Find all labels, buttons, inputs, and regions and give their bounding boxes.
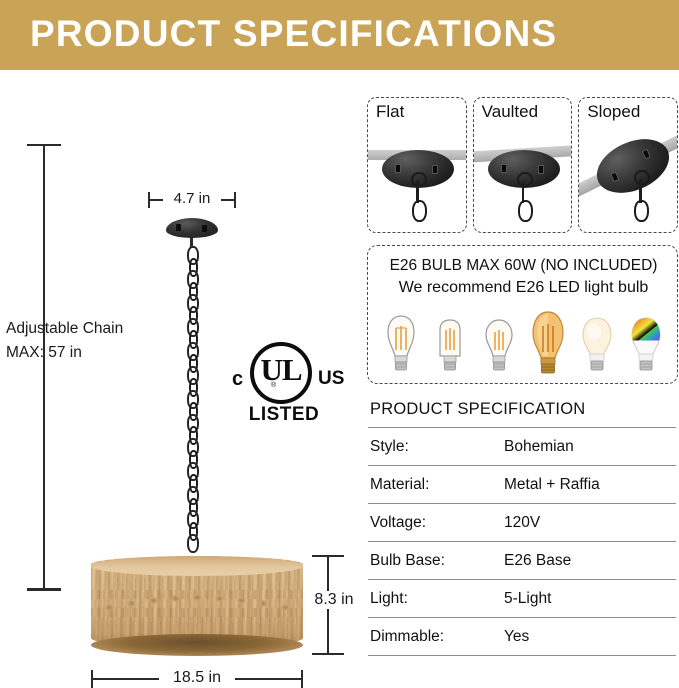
table-row: Bulb Base: E26 Base — [368, 541, 676, 579]
clear-a19-filament-bulb-icon — [478, 310, 520, 376]
amber-vintage-st64-bulb-icon — [527, 310, 569, 376]
right-info-column: Flat Vaulted Sloped — [362, 70, 679, 666]
canopy-screw-left — [176, 224, 181, 231]
canopy-width-dimension: 4.7 in — [148, 192, 236, 208]
mount-option-flat-label: Flat — [376, 102, 404, 122]
ul-prefix-c: c — [232, 368, 243, 391]
clear-st64-filament-bulb-icon — [380, 310, 422, 376]
spec-value: Metal + Raffia — [504, 476, 600, 494]
vaulted-hanging-loop — [517, 172, 533, 187]
shade-width-right-tick — [301, 670, 303, 688]
canopy-width-label: 4.7 in — [163, 190, 221, 207]
chain-label-line1: Adjustable Chain — [6, 317, 123, 341]
shade-height-label: 8.3 in — [308, 591, 360, 609]
mount-option-sloped-label: Sloped — [587, 102, 640, 122]
sloped-chain-link — [634, 200, 649, 222]
ul-listed-text: LISTED — [242, 404, 326, 426]
frosted-a19-led-bulb-icon — [576, 310, 618, 376]
spec-value: Yes — [504, 628, 529, 646]
mount-option-vaulted: Vaulted — [473, 97, 573, 233]
bulb-recommendation-box: E26 BULB MAX 60W (NO INCLUDED) We recomm… — [367, 245, 678, 384]
header-banner: PRODUCT SPECIFICATIONS — [0, 0, 679, 70]
spec-value: 5-Light — [504, 590, 551, 608]
spec-table-title: PRODUCT SPECIFICATION — [368, 400, 676, 427]
spec-key: Dimmable: — [368, 628, 504, 646]
table-row: Voltage: 120V — [368, 503, 676, 541]
shade-weave-band-lower — [91, 608, 303, 617]
clear-t45-tubular-filament-bulb-icon — [429, 310, 471, 376]
chain-dimension-bottom-tick — [27, 588, 61, 591]
ul-letters: UL — [254, 354, 308, 386]
table-row: Material: Metal + Raffia — [368, 465, 676, 503]
bulb-max-wattage-text: E26 BULB MAX 60W (NO INCLUDED) — [368, 257, 679, 275]
product-illustration-panel: Adjustable Chain MAX: 57 in 4.7 in — [0, 70, 358, 666]
bulb-type-row — [380, 308, 667, 376]
spec-value: 120V — [504, 514, 540, 532]
mount-option-flat: Flat — [367, 97, 467, 233]
chain-dimension-label: Adjustable Chain MAX: 57 in — [6, 317, 123, 365]
shade-top-rim — [91, 556, 303, 576]
spec-key: Light: — [368, 590, 504, 608]
ul-listed-icon: c UL ® US LISTED — [232, 342, 344, 428]
table-row: Style: Bohemian — [368, 427, 676, 465]
shade-width-dimension: 18.5 in — [91, 670, 303, 688]
ul-registered-symbol: ® — [271, 382, 276, 389]
raffia-drum-shade — [91, 548, 303, 656]
shade-bottom-rim — [91, 634, 303, 656]
spec-key: Style: — [368, 438, 504, 456]
canopy-dimension-left-tick — [148, 192, 150, 208]
spec-key: Voltage: — [368, 514, 504, 532]
table-row: Light: 5-Light — [368, 579, 676, 617]
page-title: PRODUCT SPECIFICATIONS — [30, 13, 557, 55]
shade-width-label: 18.5 in — [159, 669, 235, 687]
spec-value: E26 Base — [504, 552, 571, 570]
mount-option-sloped: Sloped — [578, 97, 678, 233]
shade-height-dimension: 8.3 in — [312, 555, 356, 655]
product-specification-table: PRODUCT SPECIFICATION Style: Bohemian Ma… — [368, 400, 676, 656]
rgb-color-changing-led-bulb-icon — [625, 310, 667, 376]
mount-option-vaulted-label: Vaulted — [482, 102, 538, 122]
spec-key: Bulb Base: — [368, 552, 504, 570]
canopy-dimension-right-tick — [234, 192, 236, 208]
vaulted-chain-link — [518, 200, 533, 222]
chain-label-line2: MAX: 57 in — [6, 341, 123, 365]
ul-suffix-us: US — [318, 368, 344, 390]
chain-dimension-line — [43, 145, 45, 590]
flat-chain-link — [412, 200, 427, 222]
spec-value: Bohemian — [504, 438, 574, 456]
table-row: Dimmable: Yes — [368, 617, 676, 656]
shade-width-left-tick — [91, 670, 93, 688]
canopy-screw-right — [202, 225, 207, 232]
hanging-chain — [183, 246, 199, 548]
flat-hanging-loop — [411, 172, 427, 187]
shade-height-bottom-tick — [312, 653, 344, 655]
ceiling-mount-options: Flat Vaulted Sloped — [367, 97, 678, 233]
spec-key: Material: — [368, 476, 504, 494]
ul-circle-outline: UL ® — [250, 342, 312, 404]
sloped-canopy-disc — [589, 129, 678, 204]
bulb-recommendation-text: We recommend E26 LED light bulb — [368, 279, 679, 297]
